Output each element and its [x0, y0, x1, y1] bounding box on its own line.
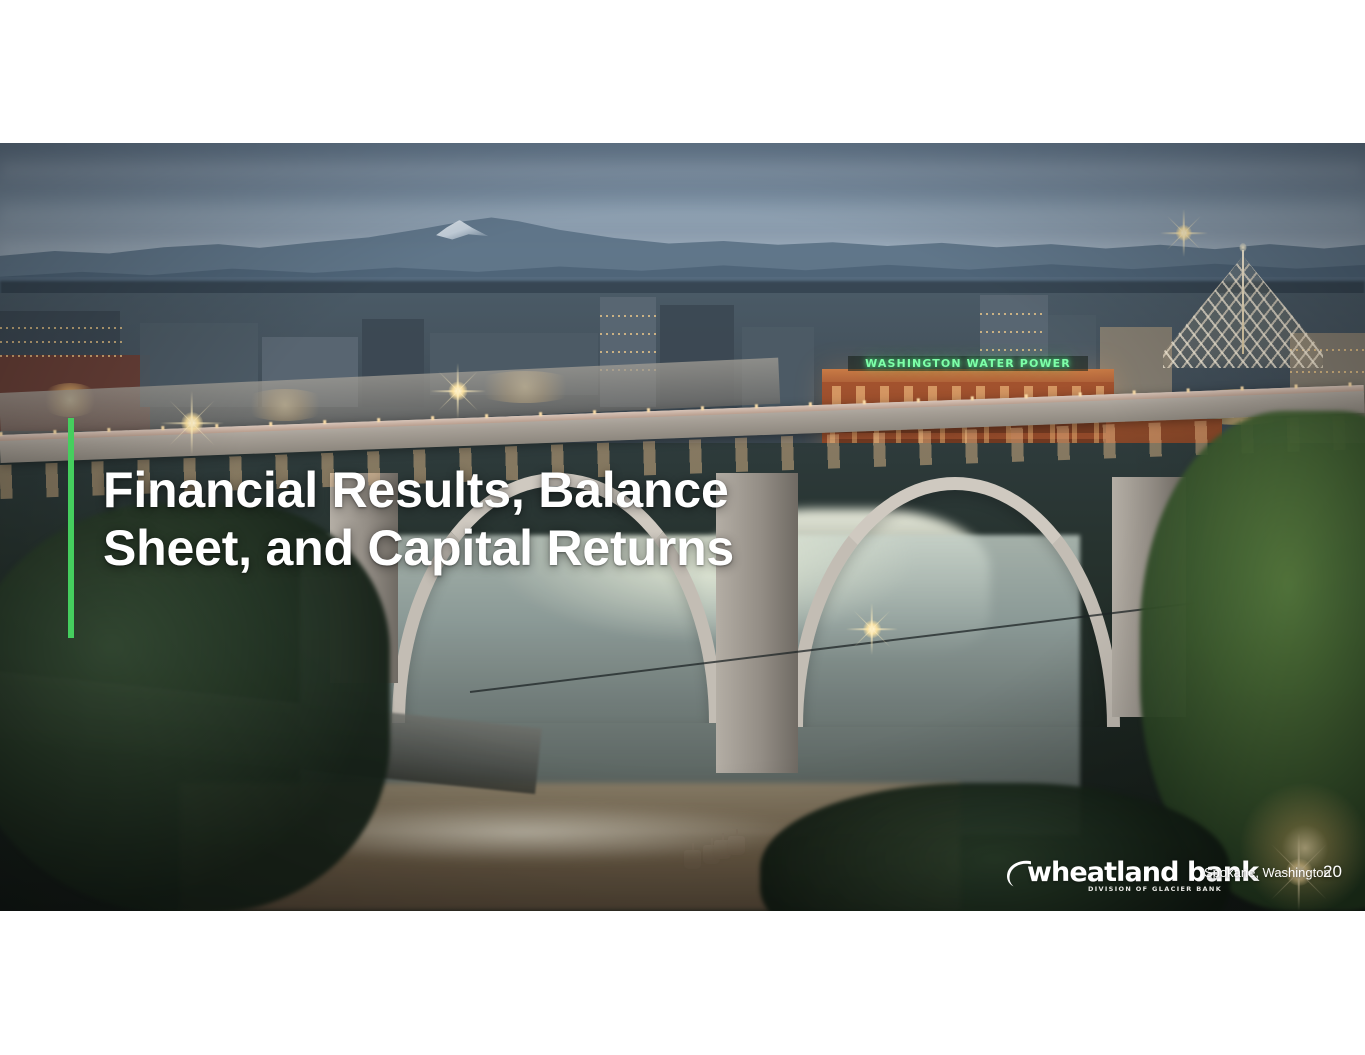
cloud-band: [0, 197, 1365, 231]
window-lights: [0, 341, 124, 343]
cloud-band: [0, 157, 1365, 183]
pavilion-beacon: [1240, 243, 1247, 252]
pavilion-mast: [1242, 250, 1244, 354]
window-lights: [1290, 371, 1365, 373]
window-lights: [0, 327, 124, 329]
window-lights: [600, 333, 658, 335]
wheatland-bank-logo: wheatland bank DIVISION OF GLACIER BANK: [1004, 856, 1190, 894]
title-accent-bar: [68, 418, 74, 638]
riverfront-pavilion: [1163, 256, 1323, 368]
window-lights: [0, 355, 124, 357]
presentation-slide: WASHINGTON WATER POWER: [0, 0, 1365, 1055]
building-neon-sign: WASHINGTON WATER POWER: [848, 356, 1088, 371]
logo-tagline: DIVISION OF GLACIER BANK: [1088, 885, 1222, 893]
page-title: Financial Results, Balance Sheet, and Ca…: [103, 461, 923, 577]
page-number: 20: [1323, 862, 1342, 882]
window-lights: [980, 313, 1046, 315]
lens-flare: [1230, 773, 1365, 911]
river-foam: [330, 803, 810, 863]
window-lights: [980, 349, 1046, 351]
footer-location: Spokane, Washington: [1204, 865, 1331, 880]
window-lights: [600, 315, 658, 317]
page-title-line-2: Sheet, and Capital Returns: [103, 519, 923, 577]
page-title-line-1: Financial Results, Balance: [103, 461, 923, 519]
window-lights: [980, 331, 1046, 333]
window-lights: [600, 351, 658, 353]
